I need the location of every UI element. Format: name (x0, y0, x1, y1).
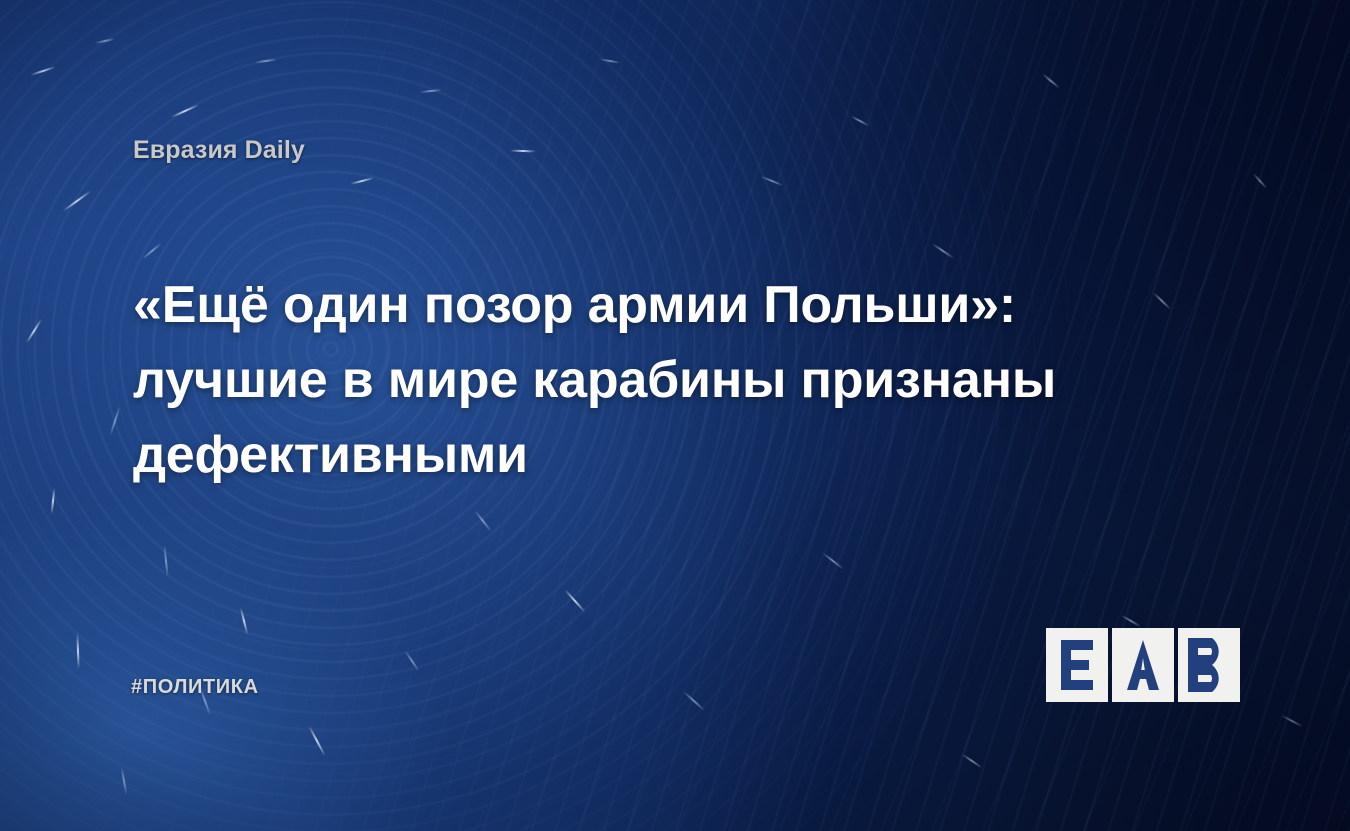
logo-letter-d-tile (1178, 628, 1240, 702)
category-tag-politics[interactable]: #ПОЛИТИКА (131, 676, 259, 699)
cover-content: Евразия Daily «Ещё один позор армии Поль… (0, 0, 1350, 831)
article-headline: «Ещё один позор армии Польши»: лучшие в … (133, 268, 1143, 493)
eadaily-logo[interactable] (1046, 628, 1240, 702)
logo-letter-a-tile (1112, 628, 1174, 702)
article-cover-card: Евразия Daily «Ещё один позор армии Поль… (0, 0, 1350, 831)
logo-letter-e-tile (1046, 628, 1108, 702)
publisher-brand: Евразия Daily (133, 136, 305, 165)
